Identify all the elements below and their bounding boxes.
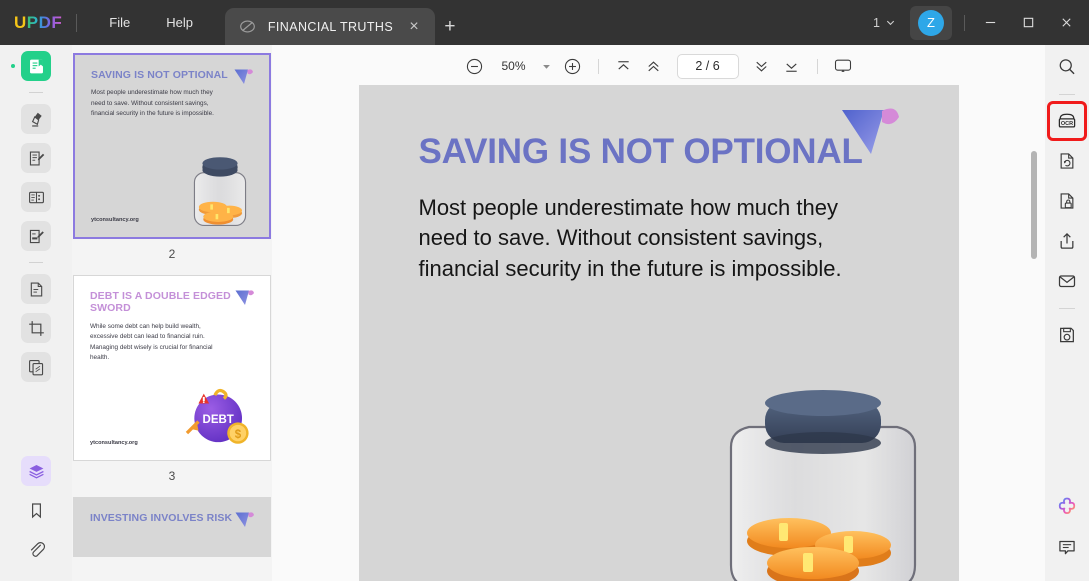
last-page-button[interactable] [777, 52, 807, 80]
user-account-button[interactable]: Z [910, 6, 952, 40]
reader-mode-icon [27, 57, 46, 76]
v-brand-logo [233, 67, 255, 87]
chevron-down-icon [885, 17, 896, 28]
maximize-button[interactable] [1009, 0, 1047, 45]
ai-assistant-button[interactable] [1051, 491, 1083, 523]
sidebar-item-crop[interactable] [21, 313, 51, 343]
sidebar-item-organize-pages[interactable] [21, 352, 51, 382]
zoom-dropdown-button[interactable] [536, 53, 558, 79]
close-window-button[interactable] [1047, 0, 1085, 45]
first-page-icon [614, 57, 633, 76]
right-rail-bottom-group [1051, 491, 1083, 581]
protect-document-icon [1057, 191, 1077, 211]
sidebar-item-edit-pdf[interactable] [21, 143, 51, 173]
thumbnail-page-content: DEBT IS A DOUBLE EDGED SWORD While some … [74, 276, 270, 460]
next-page-button[interactable] [747, 52, 777, 80]
zoom-out-button[interactable] [459, 52, 489, 80]
email-icon [1057, 271, 1077, 291]
svg-text:$: $ [235, 429, 242, 441]
zoom-in-button[interactable] [558, 52, 588, 80]
new-tab-button[interactable]: + [435, 8, 465, 45]
thumbnail-footer: ytconsultancy.org [90, 440, 138, 446]
search-icon [1057, 57, 1077, 77]
zoom-level-value[interactable]: 50% [489, 59, 535, 73]
thumbnail-page-content: SAVING IS NOT OPTIONAL Most people under… [75, 55, 269, 237]
ocr-icon: OCR [1056, 110, 1078, 132]
convert-document-icon [1057, 151, 1077, 171]
sidebar-item-attachments[interactable] [21, 534, 51, 564]
close-icon [1060, 16, 1073, 29]
thumbnail-number: 3 [169, 469, 176, 483]
protect-document-button[interactable] [1051, 185, 1083, 217]
presentation-mode-button[interactable] [828, 52, 858, 80]
previous-page-icon [644, 57, 663, 76]
bookmark-panel-icon [27, 501, 46, 520]
thumbnail-title: INVESTING INVOLVES RISK [90, 512, 254, 524]
sidebar-item-reader-mode[interactable] [21, 51, 51, 81]
window-count-dropdown[interactable]: 1 [865, 16, 904, 30]
sidebar-item-comment[interactable] [21, 104, 51, 134]
tab-financial-truths[interactable]: FINANCIAL TRUTHS × [225, 8, 435, 45]
svg-text:OCR: OCR [1061, 121, 1073, 127]
sidebar-item-document-tools[interactable] [21, 274, 51, 304]
previous-page-button[interactable] [639, 52, 669, 80]
thumbnail-page-2[interactable]: SAVING IS NOT OPTIONAL Most people under… [73, 53, 271, 239]
attachment-panel-icon [27, 540, 46, 559]
updf-application-window: UPDF File Help FINANCIAL TRUTHS × + 1 [0, 0, 1089, 581]
organize-pages-icon [27, 358, 46, 377]
minimize-button[interactable] [971, 0, 1009, 45]
money-jar-illustration [713, 389, 933, 581]
ai-assistant-icon [1056, 496, 1078, 518]
share-icon [1057, 231, 1077, 251]
search-button[interactable] [1051, 51, 1083, 83]
edit-text-icon [27, 149, 46, 168]
email-button[interactable] [1051, 265, 1083, 297]
thumbnail-body: Most people underestimate how much they … [91, 88, 217, 119]
crop-page-icon [27, 319, 46, 338]
maximize-icon [1022, 16, 1035, 29]
last-page-icon [782, 57, 801, 76]
layers-panel-icon [27, 462, 46, 481]
thumbnail-footer: ytconsultancy.org [91, 217, 139, 223]
sidebar-item-fill-and-sign[interactable] [21, 221, 51, 251]
page-title: SAVING IS NOT OPTIONAL [419, 133, 901, 171]
vertical-scrollbar-thumb[interactable] [1031, 151, 1037, 259]
menu-help[interactable]: Help [148, 0, 211, 45]
money-jar-illustration [189, 155, 251, 229]
left-rail-bottom-group [21, 456, 51, 581]
window-count-value: 1 [873, 16, 880, 30]
thumbnail-page-4[interactable]: INVESTING INVOLVES RISK [73, 497, 271, 557]
tab-title: FINANCIAL TRUTHS [266, 20, 395, 34]
v-brand-logo [839, 103, 905, 161]
document-viewer: 50% [272, 45, 1045, 581]
chevron-down-icon [542, 62, 551, 71]
titlebar-divider [76, 14, 77, 32]
left-tool-rail [0, 45, 72, 581]
v-brand-logo [234, 288, 256, 308]
pdf-document-icon [239, 18, 256, 35]
convert-document-button[interactable] [1051, 145, 1083, 177]
save-icon [1057, 325, 1077, 345]
page-layout-icon [27, 188, 46, 207]
tab-strip: FINANCIAL TRUTHS × + [225, 0, 465, 45]
sidebar-item-layers[interactable] [21, 456, 51, 486]
svg-text:DEBT: DEBT [203, 414, 234, 426]
share-button[interactable] [1051, 225, 1083, 257]
zoom-in-icon [563, 57, 582, 76]
right-rail-divider [1059, 94, 1075, 95]
next-page-icon [752, 57, 771, 76]
vertical-scrollbar-track[interactable] [1035, 83, 1041, 581]
thumbnail-list: SAVING IS NOT OPTIONAL Most people under… [72, 53, 272, 557]
rail-divider [29, 92, 43, 93]
menu-file[interactable]: File [91, 0, 148, 45]
rail-divider-2 [29, 262, 43, 263]
page-thumbnail-panel[interactable]: SAVING IS NOT OPTIONAL Most people under… [72, 45, 272, 581]
thumbnail-title: SAVING IS NOT OPTIONAL [91, 69, 253, 81]
thumbnail-number: 2 [169, 247, 176, 261]
page-body-text: Most people underestimate how much they … [419, 193, 891, 285]
thumbnail-body: While some debt can help build wealth, e… [90, 322, 218, 364]
viewer-toolbar: 50% [272, 45, 1045, 83]
page-indicator-value: 2 / 6 [695, 59, 719, 73]
thumbnail-title: DEBT IS A DOUBLE EDGED SWORD [90, 290, 254, 315]
active-tool-indicator [11, 64, 15, 68]
document-tools-icon [27, 280, 46, 299]
app-body: SAVING IS NOT OPTIONAL Most people under… [0, 45, 1089, 581]
window-controls-divider [964, 15, 965, 31]
right-tool-rail: OCR [1045, 45, 1089, 581]
comments-button[interactable] [1051, 531, 1083, 563]
sidebar-item-page-layout[interactable] [21, 182, 51, 212]
right-rail-divider-2 [1059, 308, 1075, 309]
tab-close-button[interactable]: × [403, 16, 425, 38]
page-canvas[interactable]: SAVING IS NOT OPTIONAL Most people under… [272, 83, 1045, 581]
toolbar-divider-2 [817, 59, 818, 74]
presentation-mode-icon [833, 56, 853, 76]
page-number-input[interactable]: 2 / 6 [677, 54, 739, 79]
highlighter-icon [27, 110, 46, 129]
toolbar-divider-1 [598, 59, 599, 74]
title-bar-right-group: 1 Z [865, 0, 1089, 45]
zoom-out-icon [465, 57, 484, 76]
thumbnail-page-content: INVESTING INVOLVES RISK [74, 498, 270, 556]
save-button[interactable] [1051, 319, 1083, 351]
comment-bubble-icon [1057, 537, 1077, 557]
document-page-2: SAVING IS NOT OPTIONAL Most people under… [359, 85, 959, 581]
updf-logo: UPDF [14, 13, 62, 33]
v-brand-logo [234, 510, 256, 530]
first-page-button[interactable] [609, 52, 639, 80]
avatar: Z [918, 10, 944, 36]
annotate-sign-icon [27, 227, 46, 246]
debt-ball-illustration: DEBT $ [182, 382, 256, 448]
ocr-button[interactable]: OCR [1051, 105, 1083, 137]
title-bar: UPDF File Help FINANCIAL TRUTHS × + 1 [0, 0, 1089, 45]
sidebar-item-bookmarks[interactable] [21, 495, 51, 525]
thumbnail-page-3[interactable]: DEBT IS A DOUBLE EDGED SWORD While some … [73, 275, 271, 461]
title-bar-left-group: UPDF File Help [0, 0, 211, 45]
minimize-icon [984, 16, 997, 29]
